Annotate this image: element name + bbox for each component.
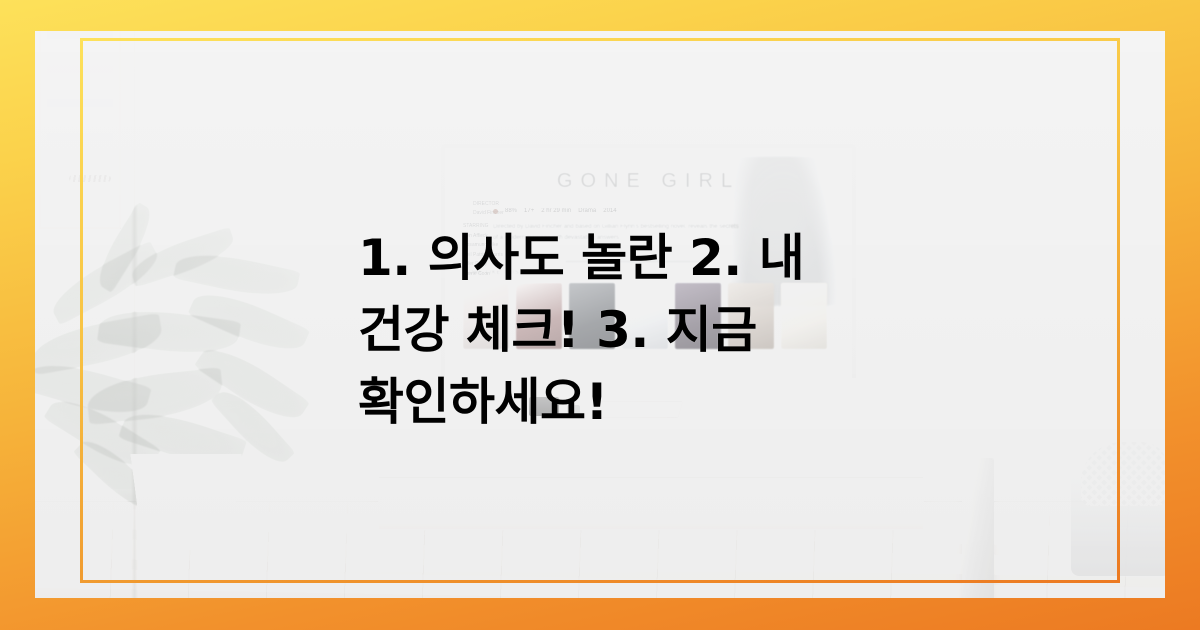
artwork-caption xyxy=(51,209,101,215)
score-dot-icon xyxy=(493,209,498,214)
tv-metadata-row: 88% 17+ 2 hr 29 min Drama 2014 xyxy=(493,208,617,214)
wall-art-frame xyxy=(39,31,121,229)
tv-genre: Drama xyxy=(578,208,596,214)
striped-artwork xyxy=(47,31,113,165)
headline-text: 1. 의사도 놀란 2. 내 건강 체크! 3. 지금 확인하세요! xyxy=(358,222,878,438)
tv-score: 88% xyxy=(505,208,517,214)
artwork-signature xyxy=(69,175,111,182)
tv-movie-title: GONE GIRL xyxy=(445,170,852,193)
potted-plant xyxy=(35,220,345,550)
console-drawer xyxy=(379,477,923,529)
drawer-handle xyxy=(397,483,893,488)
promo-banner: GONE GIRL DIRECTOR David Fincher 88% 17+… xyxy=(0,0,1200,630)
armchair-knit-back xyxy=(1081,442,1165,506)
plant-pot xyxy=(123,454,249,550)
tv-rating: 17+ xyxy=(524,208,534,214)
tv-year: 2014 xyxy=(603,208,616,214)
floor-speaker xyxy=(962,458,994,598)
tv-duration: 2 hr 29 min xyxy=(541,208,571,214)
